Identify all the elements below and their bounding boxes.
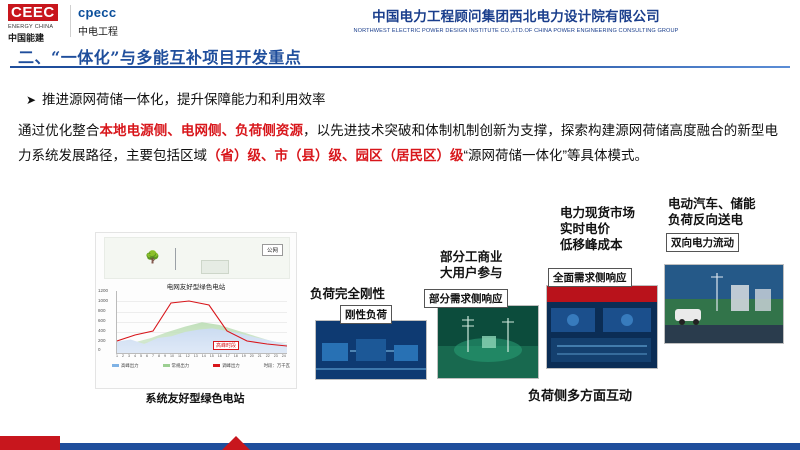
tree-icon: 🌳 <box>145 250 160 264</box>
photo-partial-dr <box>437 305 539 379</box>
y-tick-1000: 1000 <box>98 298 108 303</box>
title-underline <box>10 66 790 68</box>
photo-bidirectional-art <box>665 265 783 343</box>
heading-full-dr-line1: 电力现货市场 <box>560 206 635 220</box>
label-partial-dr: 部分需求侧响应 <box>424 289 508 308</box>
legend-label-peaking: 调峰出力 <box>222 363 240 368</box>
photo-full-dr-art <box>547 286 657 368</box>
bottom-caption: 负荷侧多方面互动 <box>528 385 632 404</box>
x-tick: 19 <box>242 354 246 358</box>
paragraph-highlight-1: 本地电源侧、电网侧、负荷侧资源 <box>99 123 303 138</box>
logo-cpecc-cn: 中电工程 <box>78 23 148 38</box>
organization-name-en: NORTHWEST ELECTRIC POWER DESIGN INSTITUT… <box>240 28 792 34</box>
slide: CEEC ENERGY CHINA 中国能建 cpecc 中电工程 中国电力工程… <box>0 0 800 450</box>
slide-title-bar: 二、“一体化”与多能互补项目开发重点 <box>10 42 790 68</box>
x-tick: 22 <box>266 354 270 358</box>
slide-footer <box>0 436 800 450</box>
paragraph-part-3: “源网荷储一体化”等具体模式。 <box>464 148 649 163</box>
photo-rigid-load <box>315 320 427 380</box>
legend-item-peaking: 调峰出力 <box>213 363 240 369</box>
chart-caption: 系统友好型绿色电站 <box>95 390 295 406</box>
x-tick: 15 <box>210 354 214 358</box>
x-tick: 6 <box>146 354 148 358</box>
photo-partial-dr-art <box>438 306 538 378</box>
x-tick: 24 <box>282 354 286 358</box>
x-tick: 12 <box>186 354 190 358</box>
legend-label-peak: 高峰出力 <box>121 363 139 368</box>
x-tick: 20 <box>250 354 254 358</box>
body-paragraph: 通过优化整合本地电源侧、电网侧、负荷侧资源，以先进技术突破和体制机制创新为支撑，… <box>18 118 778 168</box>
footer-bar <box>0 443 800 450</box>
heading-bidirectional-line1: 电动汽车、储能 <box>668 197 756 211</box>
heading-full-dr: 电力现货市场 实时电价 低移峰成本 <box>560 205 635 253</box>
y-tick-1200: 1200 <box>98 288 108 293</box>
footer-red-block <box>0 436 60 450</box>
chart-x-axis: 1 2 3 4 5 6 7 8 9 10 11 12 13 14 15 16 1… <box>116 354 286 358</box>
label-bidirectional: 双向电力流动 <box>666 233 739 252</box>
logo-energy-china: CEEC ENERGY CHINA 中国能建 <box>8 4 64 36</box>
x-tick: 18 <box>234 354 238 358</box>
x-tick: 5 <box>140 354 142 358</box>
heading-rigid-load: 负荷完全刚性 <box>310 286 385 302</box>
x-tick: 8 <box>158 354 160 358</box>
photo-bidirectional <box>664 264 784 344</box>
logo-cpecc: cpecc 中电工程 <box>70 5 148 37</box>
chart-plot-area: 1200 1000 800 600 400 200 0 高峰时段 <box>116 291 287 354</box>
x-tick: 4 <box>134 354 136 358</box>
x-tick: 17 <box>226 354 230 358</box>
x-tick: 2 <box>122 354 124 358</box>
chart-legend: 高峰出力 常规出力 调峰出力 时段：万千瓦 <box>112 363 290 369</box>
slide-header: CEEC ENERGY CHINA 中国能建 cpecc 中电工程 中国电力工程… <box>0 0 800 42</box>
x-tick: 7 <box>152 354 154 358</box>
logo-cpecc-mark: cpecc <box>78 5 148 20</box>
page-title: 二、“一体化”与多能互补项目开发重点 <box>18 44 301 68</box>
legend-axis-note: 时段：万千瓦 <box>264 363 290 369</box>
heading-partial-dr: 部分工商业 大用户参与 <box>440 249 503 281</box>
grid-label: 公网 <box>262 244 283 256</box>
y-tick-400: 400 <box>98 328 106 333</box>
legend-swatch-peak <box>112 364 119 367</box>
legend-item-peak: 高峰出力 <box>112 363 139 369</box>
chart-annotation: 高峰时段 <box>213 341 239 350</box>
legend-swatch-peaking <box>213 364 220 367</box>
x-tick: 1 <box>116 354 118 358</box>
label-rigid-load: 刚性负荷 <box>340 305 392 324</box>
bullet-point: ➤推进源网荷储一体化，提升保障能力和利用效率 <box>26 88 766 108</box>
chart-figure: 🌳 公网 电网友好型绿色电站 1200 1000 800 600 400 200… <box>95 232 297 389</box>
y-tick-200: 200 <box>98 338 106 343</box>
legend-item-regular: 常规出力 <box>163 363 190 369</box>
x-tick: 21 <box>258 354 262 358</box>
x-tick: 13 <box>194 354 198 358</box>
x-tick: 3 <box>128 354 130 358</box>
arrow-bullet-icon: ➤ <box>26 93 42 107</box>
label-full-dr: 全面需求侧响应 <box>548 268 632 287</box>
paragraph-highlight-2: （省）级、市（县）级、园区（居民区）级 <box>207 148 464 163</box>
y-tick-800: 800 <box>98 308 106 313</box>
photo-rigid-load-art <box>316 321 426 379</box>
chart-scene-illustration: 🌳 公网 <box>104 237 290 279</box>
heading-bidirectional: 电动汽车、储能 负荷反向送电 <box>668 196 756 228</box>
heading-partial-dr-line2: 大用户参与 <box>440 266 503 280</box>
organization-name: 中国电力工程顾问集团西北电力设计院有限公司 NORTHWEST ELECTRIC… <box>240 5 792 34</box>
substation-icon <box>201 260 229 274</box>
x-tick: 10 <box>170 354 174 358</box>
legend-swatch-regular <box>163 364 170 367</box>
bullet-text: 推进源网荷储一体化，提升保障能力和利用效率 <box>42 92 326 107</box>
x-tick: 9 <box>164 354 166 358</box>
paragraph-part-1: 通过优化整合 <box>18 123 99 138</box>
footer-triangle-icon <box>222 436 250 450</box>
series-line-peaking <box>117 291 287 353</box>
logo-ceec-mark: CEEC <box>8 4 58 21</box>
heading-partial-dr-line1: 部分工商业 <box>440 250 503 264</box>
x-tick: 16 <box>218 354 222 358</box>
x-tick: 23 <box>274 354 278 358</box>
heading-full-dr-line2: 实时电价 <box>560 222 610 236</box>
legend-label-regular: 常规出力 <box>172 363 190 368</box>
chart-title: 电网友好型绿色电站 <box>96 281 296 291</box>
x-tick: 11 <box>178 354 182 358</box>
x-tick: 14 <box>202 354 206 358</box>
y-tick-600: 600 <box>98 318 106 323</box>
tower-icon <box>175 248 176 270</box>
photo-full-dr <box>546 285 658 369</box>
heading-bidirectional-line2: 负荷反向送电 <box>668 213 743 227</box>
heading-full-dr-line3: 低移峰成本 <box>560 238 623 252</box>
y-tick-0: 0 <box>98 347 101 352</box>
organization-name-cn: 中国电力工程顾问集团西北电力设计院有限公司 <box>240 5 792 25</box>
logo-ceec-sub: ENERGY CHINA <box>8 24 64 30</box>
